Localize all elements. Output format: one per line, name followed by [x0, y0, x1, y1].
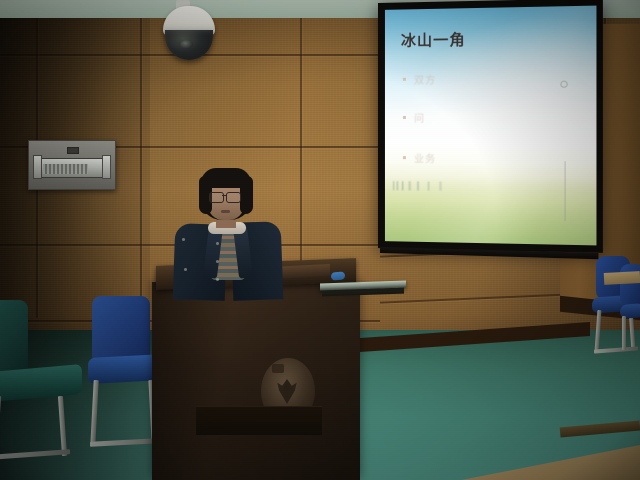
- slide-bullet-2: 问: [403, 110, 425, 125]
- jacket-button: [216, 278, 219, 281]
- chair-leg: [0, 396, 1, 460]
- slide-bullet-1: 双方: [403, 71, 436, 86]
- eyeglasses-left-lens-icon: [209, 192, 224, 203]
- slide-surface: 冰山一角 双方 问 业务: [385, 6, 597, 246]
- panel-latch-left: [33, 155, 42, 179]
- chair-back: [0, 300, 28, 378]
- eyeglasses-right-lens-icon: [226, 192, 241, 203]
- slide-bullet-2-label: 问: [414, 110, 425, 125]
- chair-foot-rail: [90, 438, 158, 447]
- projection-screen: 冰山一角 双方 问 业务: [378, 0, 603, 253]
- chair-back: [92, 296, 150, 364]
- bullet-marker-icon: [403, 116, 406, 119]
- breaker-switches: [43, 164, 88, 174]
- chair-foot-rail: [0, 449, 70, 460]
- electrical-breaker-panel: [28, 140, 116, 190]
- slide-title: 冰山一角: [401, 29, 466, 51]
- lecture-hall-photo: 冰山一角 双方 问 业务: [0, 0, 640, 480]
- camera-lens-icon: [180, 40, 193, 49]
- presenter: [170, 168, 290, 298]
- table-back-right: [604, 271, 640, 285]
- chair-seat: [0, 364, 82, 402]
- chair-leg: [622, 316, 626, 350]
- panel-window: [37, 158, 107, 178]
- chair-left-teal[interactable]: [0, 300, 84, 460]
- jacket-button: [182, 238, 185, 241]
- panel-indicator-icon: [67, 147, 79, 154]
- hair-side-right: [240, 176, 253, 214]
- emblem-top-mark-icon: [272, 364, 284, 373]
- slide-bullet-3-label: 业务: [414, 150, 436, 165]
- slide-skyline: [393, 181, 463, 191]
- bullet-marker-icon: [403, 156, 406, 159]
- chair-leg: [58, 396, 67, 456]
- slide-windmill-icon: [564, 161, 566, 221]
- lectern-body: [152, 282, 360, 480]
- chair-leg: [90, 380, 98, 446]
- jacket-button: [184, 268, 187, 271]
- chair-leg: [595, 310, 602, 352]
- slide-bullet-1-label: 双方: [414, 71, 436, 86]
- bullet-marker-icon: [403, 78, 406, 81]
- jacket-button: [216, 260, 219, 263]
- slide-bullet-3: 业务: [403, 150, 436, 165]
- lectern-base-recess: [196, 406, 322, 435]
- panel-latch-right: [102, 155, 111, 179]
- eyeglasses-bridge-icon: [222, 195, 226, 196]
- mouth: [221, 210, 230, 213]
- slide-windmill-head-icon: [560, 80, 567, 87]
- jacket-button: [216, 242, 219, 245]
